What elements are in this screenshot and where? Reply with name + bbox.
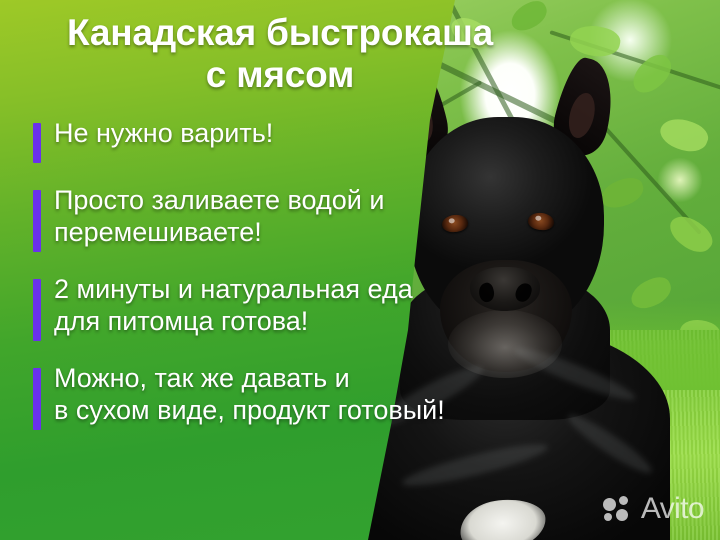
list-item: Просто заливаете водой и перемешиваете! bbox=[33, 185, 633, 252]
avito-wordmark: Avito bbox=[641, 494, 704, 524]
bullet-bar-icon bbox=[33, 123, 41, 163]
list-item-label: Не нужно варить! bbox=[54, 118, 273, 150]
list-item: 2 минуты и натуральная еда для питомца г… bbox=[33, 274, 633, 341]
headline-line-1: Канадская быстрокаша bbox=[0, 12, 560, 54]
headline-line-2: с мясом bbox=[0, 54, 560, 96]
bullet-bar-icon bbox=[33, 279, 41, 341]
list-item: Не нужно варить! bbox=[33, 118, 633, 163]
avito-watermark: Avito bbox=[603, 494, 704, 524]
avito-dots-icon bbox=[603, 496, 633, 522]
list-item-label: Можно, так же давать и в сухом виде, про… bbox=[54, 363, 445, 426]
advertisement-banner: Канадская быстрокаша с мясом Не нужно ва… bbox=[0, 0, 720, 540]
list-item-label: 2 минуты и натуральная еда для питомца г… bbox=[54, 274, 413, 337]
page-title: Канадская быстрокаша с мясом bbox=[0, 12, 560, 96]
bullet-bar-icon bbox=[33, 190, 41, 252]
list-item: Можно, так же давать и в сухом виде, про… bbox=[33, 363, 633, 430]
bullet-bar-icon bbox=[33, 368, 41, 430]
feature-list: Не нужно варить! Просто заливаете водой … bbox=[33, 118, 633, 452]
list-item-label: Просто заливаете водой и перемешиваете! bbox=[54, 185, 384, 248]
